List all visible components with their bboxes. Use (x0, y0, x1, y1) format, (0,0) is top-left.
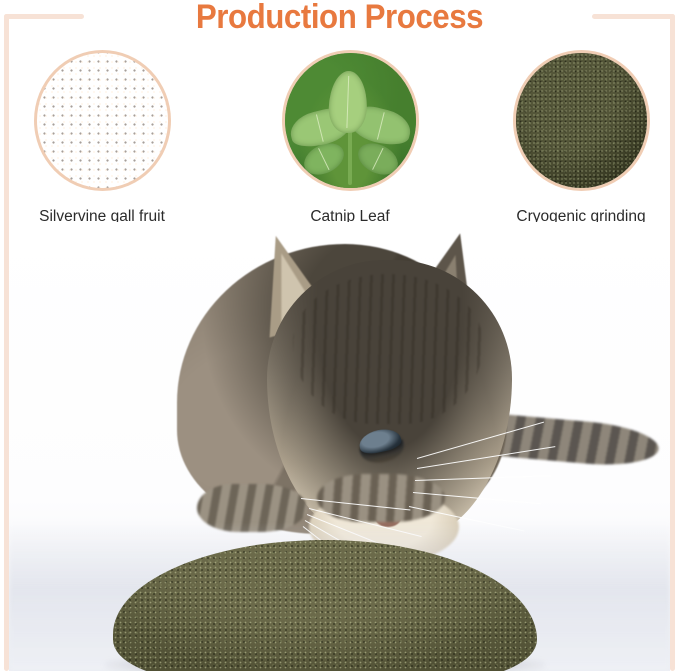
ingredient-row: Silvervine gall fruit Catnip Leaf Cr (0, 50, 679, 220)
catnip-leaf-center (327, 70, 367, 133)
catnip-leaf-image (285, 53, 416, 188)
hero-photo (9, 222, 670, 671)
ingredient-item-cryogenic-grinding: Cryogenic grinding (491, 50, 671, 226)
ingredient-item-catnip-leaf: Catnip Leaf (260, 50, 440, 226)
infographic-page: Production Process Silvervine gall fruit (0, 0, 679, 671)
catnip-leaf-photo (285, 53, 416, 188)
silvervine-gall-fruit-image (37, 53, 168, 188)
cat-head-stripes (293, 274, 483, 424)
page-title: Production Process (27, 0, 652, 38)
cryogenic-powder-texture (516, 53, 647, 188)
silvervine-gall-fruit-texture (37, 53, 168, 188)
ingredient-item-silvervine-gall-fruit: Silvervine gall fruit (12, 50, 192, 226)
cryogenic-grinding-image (516, 53, 647, 188)
